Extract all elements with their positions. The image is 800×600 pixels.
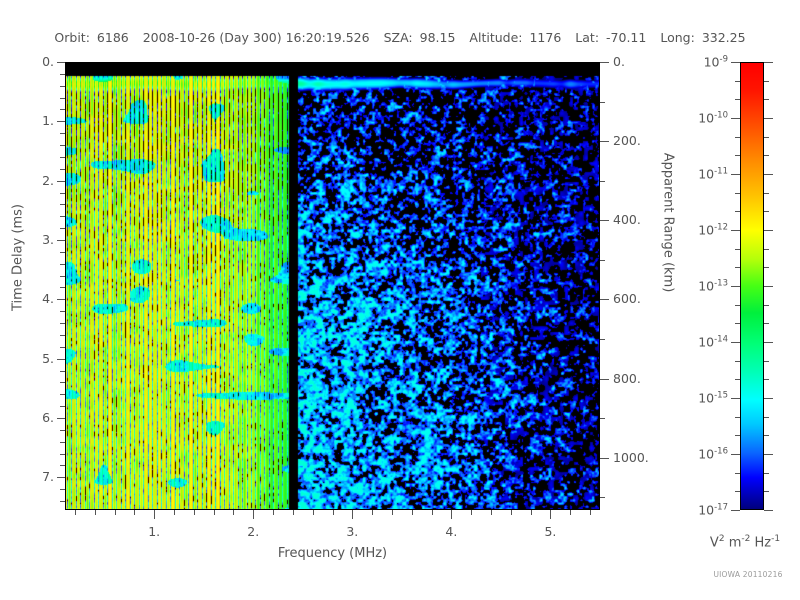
frequency-minor-tick <box>471 510 472 515</box>
frequency-minor-tick <box>95 510 96 515</box>
time-delay-minor-tick <box>60 430 65 431</box>
colorbar-major-tick <box>764 230 773 231</box>
colorbar-minor-tick <box>764 379 769 380</box>
apparent-range-major-tick <box>600 220 609 221</box>
colorbar-label-exponent: -9 <box>720 54 728 64</box>
time-delay-minor-tick <box>60 442 65 443</box>
colorbar-major-tick <box>764 118 773 119</box>
colorbar-label-mantissa: 10 <box>698 391 714 406</box>
time-delay-tick-label: 7. <box>42 469 54 484</box>
frequency-tick-label: 2. <box>247 524 259 539</box>
frequency-minor-tick <box>134 510 135 515</box>
frequency-axis-title: Frequency (MHz) <box>65 546 600 561</box>
colorbar-label-exponent: -10 <box>714 110 728 120</box>
colorbar-unit-label: V2 m-2 Hz-1 <box>690 534 800 550</box>
colorbar-label-mantissa: 10 <box>698 167 714 182</box>
colorbar-tick-label: 10-9 <box>704 54 728 69</box>
colorbar-minor-tick <box>735 249 740 250</box>
observation-datetime: 2008-10-26 (Day 300) 16:20:19.526 <box>143 30 370 45</box>
apparent-range-minor-tick <box>600 418 605 419</box>
colorbar-major-tick <box>764 342 773 343</box>
colorbar-minor-tick <box>735 323 740 324</box>
colorbar-minor-tick <box>735 435 740 436</box>
time-delay-minor-tick <box>60 454 65 455</box>
time-delay-minor-tick <box>60 252 65 253</box>
unit-m: m <box>725 535 742 550</box>
frequency-minor-tick <box>590 510 591 515</box>
frequency-minor-tick <box>432 510 433 515</box>
colorbar-minor-tick <box>735 305 740 306</box>
colorbar-major-tick <box>731 230 740 231</box>
frequency-minor-tick <box>570 510 571 515</box>
time-delay-minor-tick <box>60 264 65 265</box>
colorbar-minor-tick <box>735 211 740 212</box>
frequency-tick-label: 5. <box>544 524 556 539</box>
apparent-range-major-tick <box>600 379 609 380</box>
frequency-major-tick <box>550 510 551 519</box>
ionogram-plot-area <box>65 62 600 510</box>
colorbar-minor-tick <box>764 361 769 362</box>
frequency-minor-tick <box>194 510 195 515</box>
colorbar-label-exponent: -14 <box>714 334 728 344</box>
colorbar-minor-tick <box>764 249 769 250</box>
colorbar-minor-tick <box>735 193 740 194</box>
colorbar-major-tick <box>764 454 773 455</box>
time-delay-minor-tick <box>60 311 65 312</box>
unit-hz: Hz <box>750 535 771 550</box>
apparent-range-axis-title: Apparent Range (km) <box>661 133 676 313</box>
time-delay-major-tick <box>57 359 65 360</box>
colorbar-major-tick <box>731 286 740 287</box>
frequency-tick-label: 4. <box>445 524 457 539</box>
ionogram-heatmap-canvas <box>66 63 599 509</box>
time-delay-minor-tick <box>60 86 65 87</box>
time-delay-major-tick <box>57 121 65 122</box>
apparent-range-tick-label: 0. <box>613 54 625 69</box>
apparent-range-tick-label: 400. <box>613 212 641 227</box>
time-delay-tick-label: 4. <box>42 291 54 306</box>
colorbar-tick-label: 10-11 <box>698 166 728 181</box>
time-delay-tick-label: 1. <box>42 113 54 128</box>
apparent-range-minor-tick <box>600 260 605 261</box>
time-delay-minor-tick <box>60 323 65 324</box>
frequency-axis: Frequency (MHz) 1.2.3.4.5. <box>0 510 800 600</box>
colorbar-minor-tick <box>735 81 740 82</box>
colorbar-minor-tick <box>735 491 740 492</box>
time-delay-major-tick <box>57 299 65 300</box>
frequency-minor-tick <box>174 510 175 515</box>
time-delay-minor-tick <box>60 193 65 194</box>
colorbar-tick-label: 10-17 <box>698 502 728 517</box>
colorbar-minor-tick <box>764 473 769 474</box>
time-delay-minor-tick <box>60 276 65 277</box>
colorbar-label-exponent: -17 <box>714 502 728 512</box>
time-delay-minor-tick <box>60 347 65 348</box>
colorbar-major-tick <box>764 174 773 175</box>
colorbar-tick-label: 10-13 <box>698 278 728 293</box>
time-delay-minor-tick <box>60 169 65 170</box>
apparent-range-tick-label: 200. <box>613 133 641 148</box>
time-delay-minor-tick <box>60 501 65 502</box>
time-delay-minor-tick <box>60 394 65 395</box>
frequency-minor-tick <box>214 510 215 515</box>
time-delay-major-tick <box>57 62 65 63</box>
colorbar-tick-label: 10-16 <box>698 446 728 461</box>
colorbar-label-mantissa: 10 <box>698 223 714 238</box>
colorbar-tick-label: 10-12 <box>698 222 728 237</box>
credit-text: UIOWA 20110216 <box>700 570 796 579</box>
colorbar-major-tick <box>731 398 740 399</box>
apparent-range-tick-label: 800. <box>613 371 641 386</box>
colorbar-minor-tick <box>764 435 769 436</box>
colorbar-major-tick <box>731 454 740 455</box>
time-delay-major-tick <box>57 418 65 419</box>
colorbar-major-tick <box>764 286 773 287</box>
time-delay-major-tick <box>57 240 65 241</box>
apparent-range-major-tick <box>600 299 609 300</box>
sza-value: 98.15 <box>420 30 456 45</box>
colorbar-label-exponent: -12 <box>714 222 728 232</box>
frequency-minor-tick <box>233 510 234 515</box>
colorbar-label-mantissa: 10 <box>698 447 714 462</box>
colorbar-minor-tick <box>764 323 769 324</box>
time-delay-major-tick <box>57 181 65 182</box>
time-delay-minor-tick <box>60 157 65 158</box>
colorbar-tick-label: 10-14 <box>698 334 728 349</box>
time-delay-minor-tick <box>60 98 65 99</box>
colorbar-label-exponent: -13 <box>714 278 728 288</box>
colorbar-minor-tick <box>764 137 769 138</box>
apparent-range-major-tick <box>600 62 609 63</box>
colorbar-label-mantissa: 10 <box>698 279 714 294</box>
colorbar-minor-tick <box>764 99 769 100</box>
frequency-major-tick <box>154 510 155 519</box>
time-delay-minor-tick <box>60 287 65 288</box>
colorbar-label-mantissa: 10 <box>704 55 720 70</box>
frequency-minor-tick <box>333 510 334 515</box>
unit-v: V <box>710 535 719 550</box>
apparent-range-major-tick <box>600 458 609 459</box>
time-delay-minor-tick <box>60 216 65 217</box>
colorbar-minor-tick <box>735 267 740 268</box>
colorbar-minor-tick <box>735 379 740 380</box>
apparent-range-minor-tick <box>600 181 605 182</box>
latitude-label: Lat: <box>575 30 599 45</box>
frequency-tick-label: 3. <box>346 524 358 539</box>
colorbar-minor-tick <box>735 99 740 100</box>
colorbar-major-tick <box>731 62 740 63</box>
colorbar-minor-tick <box>764 417 769 418</box>
unit-m-exponent: -2 <box>741 534 750 544</box>
time-delay-tick-label: 2. <box>42 173 54 188</box>
colorbar-minor-tick <box>764 193 769 194</box>
time-delay-tick-label: 0. <box>42 54 54 69</box>
colorbar-minor-tick <box>764 267 769 268</box>
frequency-minor-tick <box>372 510 373 515</box>
colorbar-tick-label: 10-15 <box>698 390 728 405</box>
colorbar-major-tick <box>731 510 740 511</box>
sza-label: SZA: <box>384 30 413 45</box>
frequency-minor-tick <box>273 510 274 515</box>
colorbar-label-mantissa: 10 <box>698 503 714 518</box>
time-delay-minor-tick <box>60 145 65 146</box>
apparent-range-minor-tick <box>600 497 605 498</box>
time-delay-minor-tick <box>60 406 65 407</box>
colorbar-label-mantissa: 10 <box>698 111 714 126</box>
colorbar-minor-tick <box>735 155 740 156</box>
colorbar-minor-tick <box>735 473 740 474</box>
apparent-range-major-tick <box>600 141 609 142</box>
apparent-range-tick-label: 1000. <box>613 450 649 465</box>
apparent-range-minor-tick <box>600 339 605 340</box>
colorbar: 10-910-1010-1110-1210-1310-1410-1510-161… <box>740 62 764 510</box>
colorbar-label-exponent: -15 <box>714 390 728 400</box>
frequency-tick-label: 1. <box>148 524 160 539</box>
frequency-major-tick <box>253 510 254 519</box>
frequency-minor-tick <box>531 510 532 515</box>
time-delay-minor-tick <box>60 204 65 205</box>
colorbar-ticks: 10-910-1010-1110-1210-1310-1410-1510-161… <box>740 62 764 510</box>
time-delay-minor-tick <box>60 465 65 466</box>
colorbar-major-tick <box>731 342 740 343</box>
time-delay-axis-title: Time Delay (ms) <box>11 168 26 348</box>
time-delay-minor-tick <box>60 382 65 383</box>
longitude-value: 332.25 <box>702 30 746 45</box>
colorbar-minor-tick <box>735 417 740 418</box>
frequency-minor-tick <box>491 510 492 515</box>
time-delay-tick-label: 6. <box>42 410 54 425</box>
colorbar-major-tick <box>731 118 740 119</box>
colorbar-minor-tick <box>764 305 769 306</box>
time-delay-tick-label: 3. <box>42 232 54 247</box>
time-delay-minor-tick <box>60 371 65 372</box>
frequency-minor-tick <box>293 510 294 515</box>
ionogram-figure: Orbit: 6186 2008-10-26 (Day 300) 16:20:1… <box>0 0 800 600</box>
colorbar-minor-tick <box>735 361 740 362</box>
time-delay-minor-tick <box>60 335 65 336</box>
frequency-minor-tick <box>511 510 512 515</box>
colorbar-label-exponent: -16 <box>714 446 728 456</box>
colorbar-major-tick <box>764 62 773 63</box>
colorbar-major-tick <box>764 398 773 399</box>
colorbar-minor-tick <box>764 211 769 212</box>
colorbar-label-mantissa: 10 <box>698 335 714 350</box>
apparent-range-minor-tick <box>600 102 605 103</box>
altitude-label: Altitude: <box>469 30 522 45</box>
colorbar-minor-tick <box>764 81 769 82</box>
frequency-minor-tick <box>313 510 314 515</box>
colorbar-minor-tick <box>764 155 769 156</box>
time-delay-minor-tick <box>60 228 65 229</box>
unit-hz-exponent: -1 <box>771 534 780 544</box>
colorbar-minor-tick <box>735 137 740 138</box>
time-delay-tick-label: 5. <box>42 351 54 366</box>
orbit-value: 6186 <box>97 30 129 45</box>
colorbar-minor-tick <box>764 491 769 492</box>
colorbar-major-tick <box>731 174 740 175</box>
time-delay-minor-tick <box>60 74 65 75</box>
colorbar-label-exponent: -11 <box>714 166 728 176</box>
time-delay-minor-tick <box>60 489 65 490</box>
colorbar-tick-label: 10-10 <box>698 110 728 125</box>
time-delay-major-tick <box>57 477 65 478</box>
apparent-range-tick-label: 600. <box>613 291 641 306</box>
frequency-minor-tick <box>392 510 393 515</box>
frequency-minor-tick <box>75 510 76 515</box>
time-delay-minor-tick <box>60 133 65 134</box>
time-delay-minor-tick <box>60 109 65 110</box>
frequency-major-tick <box>352 510 353 519</box>
frequency-major-tick <box>451 510 452 519</box>
colorbar-major-tick <box>764 510 773 511</box>
frequency-minor-tick <box>412 510 413 515</box>
frequency-minor-tick <box>115 510 116 515</box>
altitude-value: 1176 <box>529 30 561 45</box>
